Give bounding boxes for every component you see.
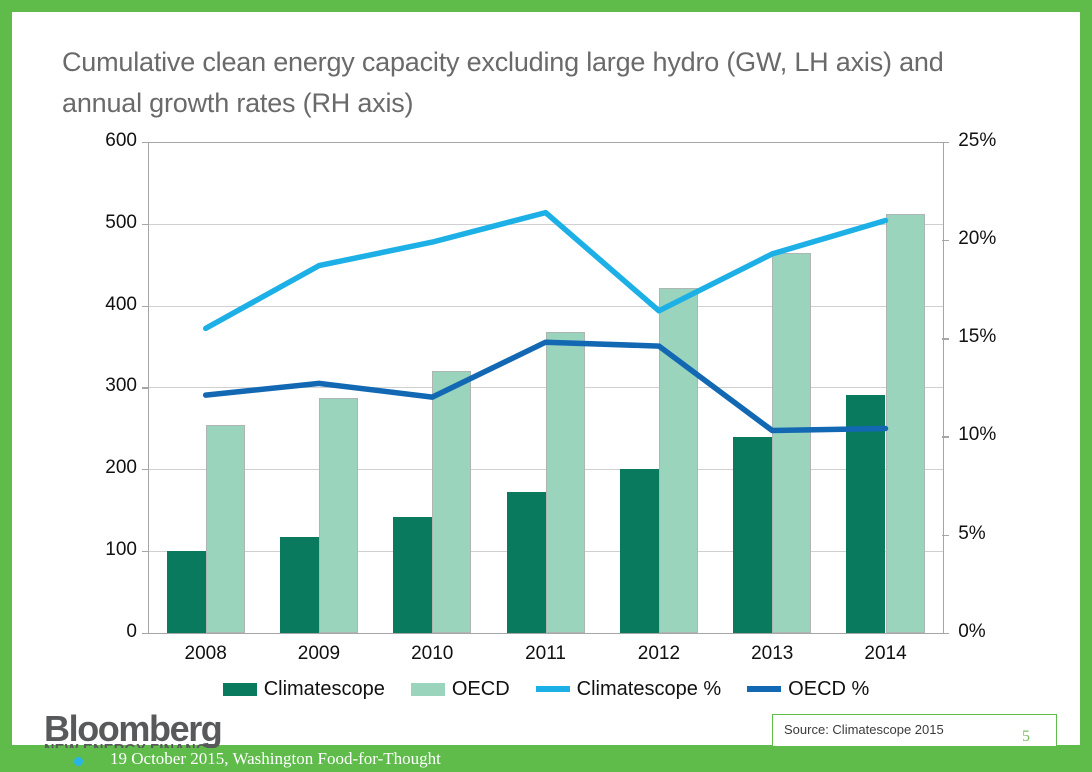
legend-item[interactable]: Climatescope % [536, 678, 722, 701]
y2-axis-tick [942, 535, 949, 536]
legend-line-swatch [747, 686, 781, 692]
chart-plot-area: 01002003004005006000%5%10%15%20%25%20082… [148, 142, 944, 634]
y-axis-tick-label: 500 [75, 212, 137, 234]
slide-background: Cumulative clean energy capacity excludi… [0, 0, 1092, 772]
legend-item[interactable]: OECD [411, 678, 510, 701]
legend-line-swatch [536, 686, 570, 692]
y-axis-tick [142, 469, 149, 470]
chart-line-overlay [149, 142, 942, 633]
x-axis-tick-label: 2009 [262, 643, 375, 665]
y2-axis-tick-label: 0% [958, 621, 1028, 643]
y-axis-tick-label: 400 [75, 294, 137, 316]
legend-bar-swatch [411, 683, 445, 696]
y-axis-tick-label: 300 [75, 375, 137, 397]
x-axis-tick-label: 2014 [829, 643, 942, 665]
y2-axis-tick-label: 25% [958, 130, 1028, 152]
y-axis-tick-label: 600 [75, 130, 137, 152]
legend-label: Climatescope % [577, 678, 722, 701]
x-axis-tick-label: 2012 [602, 643, 715, 665]
chart-line-series [206, 342, 886, 430]
y-axis-tick-label: 0 [75, 621, 137, 643]
bullet-dot-icon [74, 757, 83, 766]
y-axis-tick [142, 551, 149, 552]
y-axis-tick-label: 200 [75, 457, 137, 479]
source-note: Source: Climatescope 2015 [784, 722, 944, 737]
legend-label: OECD [452, 678, 510, 701]
y-axis-tick-label: 100 [75, 539, 137, 561]
y2-axis-tick [942, 633, 949, 634]
y-axis-tick [142, 306, 149, 307]
y2-axis-tick [942, 240, 949, 241]
y-axis-tick [142, 142, 149, 143]
x-axis-tick-label: 2011 [489, 643, 602, 665]
x-axis-tick-label: 2010 [376, 643, 489, 665]
y2-axis-tick [942, 338, 949, 339]
x-axis-tick-label: 2008 [149, 643, 262, 665]
page-number: 5 [1022, 728, 1030, 746]
y-axis-tick [142, 387, 149, 388]
legend-bar-swatch [223, 683, 257, 696]
source-box: Source: Climatescope 2015 [772, 714, 1057, 747]
y2-axis-tick-label: 5% [958, 523, 1028, 545]
chart-legend: ClimatescopeOECDClimatescope %OECD % [148, 672, 944, 706]
y2-axis-tick-label: 15% [958, 326, 1028, 348]
y2-axis-tick [942, 436, 949, 437]
y2-axis-tick-label: 10% [958, 424, 1028, 446]
slide-card: Cumulative clean energy capacity excludi… [12, 12, 1080, 745]
x-axis-tick-label: 2013 [716, 643, 829, 665]
y2-axis-tick-label: 20% [958, 228, 1028, 250]
legend-item[interactable]: Climatescope [223, 678, 385, 701]
legend-label: Climatescope [264, 678, 385, 701]
y2-axis-tick [942, 142, 949, 143]
y-axis-tick [142, 633, 149, 634]
y-axis-tick [142, 224, 149, 225]
legend-label: OECD % [788, 678, 869, 701]
page-title: Cumulative clean energy capacity excludi… [62, 42, 1022, 124]
chart-line-series [206, 213, 886, 329]
footer-bar: 19 October 2015, Washington Food-for-Tho… [12, 748, 1080, 772]
footer-event-text: 19 October 2015, Washington Food-for-Tho… [110, 749, 441, 769]
legend-item[interactable]: OECD % [747, 678, 869, 701]
